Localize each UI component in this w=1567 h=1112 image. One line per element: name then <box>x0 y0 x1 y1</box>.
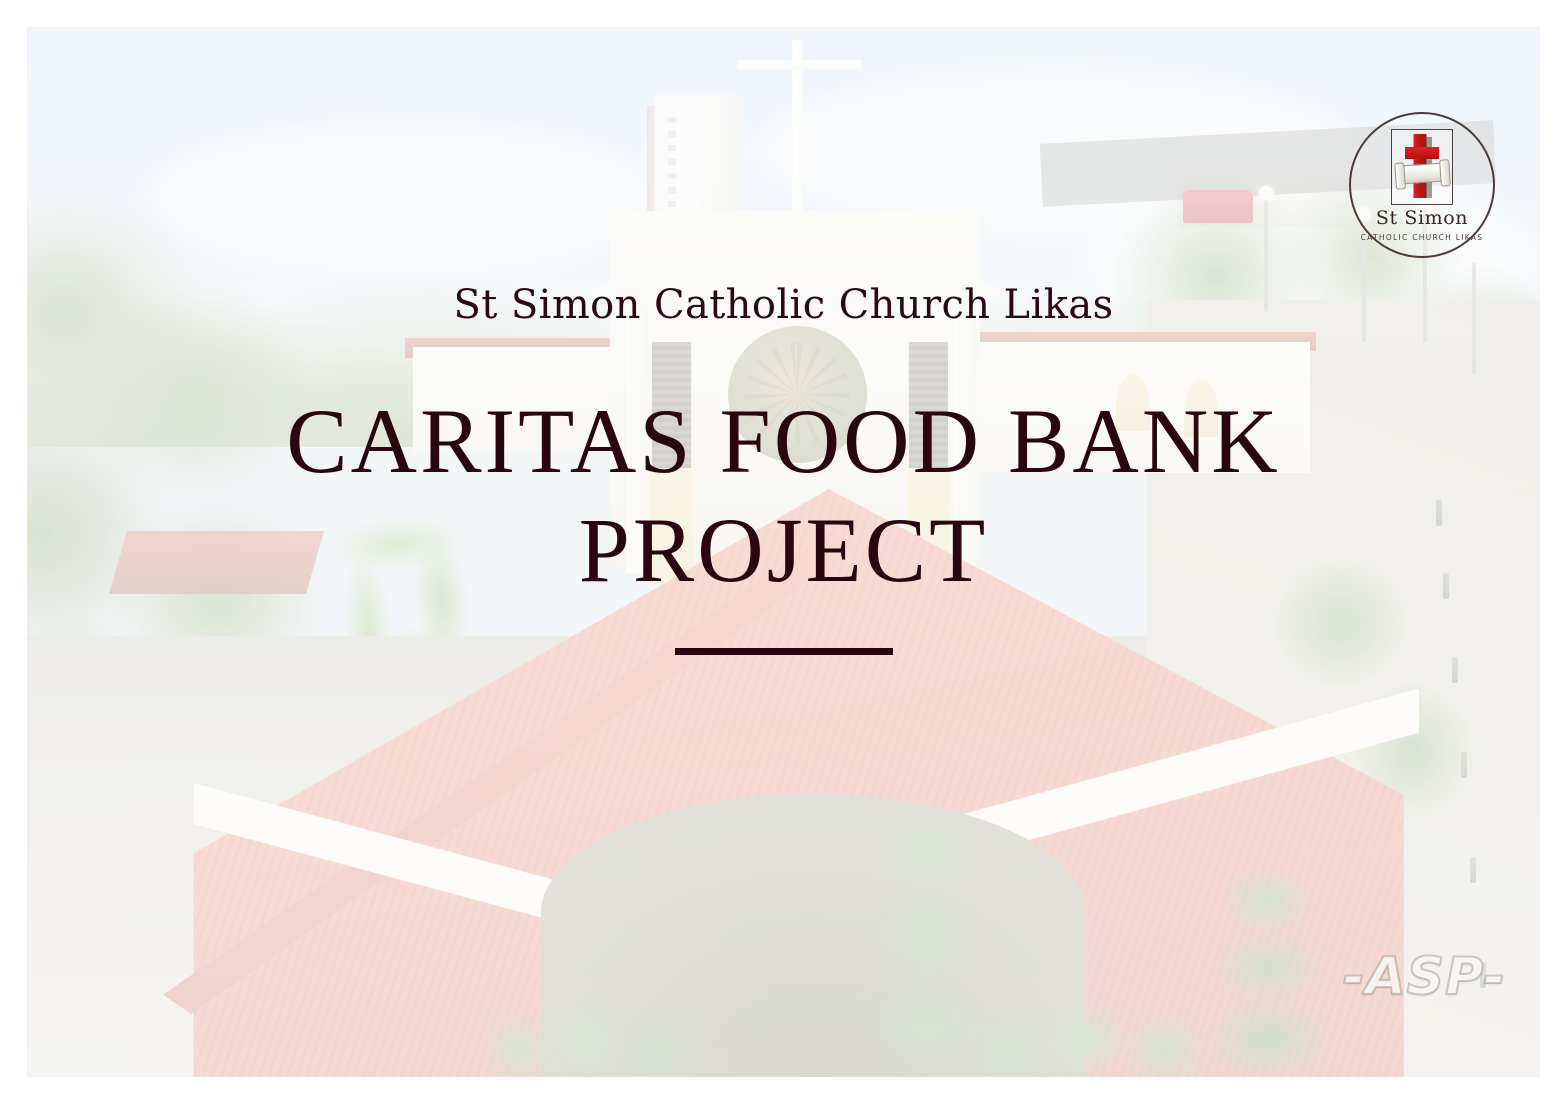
conifer-tree <box>1192 867 1343 1077</box>
asp-watermark: -ASP- <box>1343 947 1506 1007</box>
shrub <box>481 983 693 1078</box>
title-line-2: PROJECT <box>286 496 1280 605</box>
logo-name: St Simon <box>1376 209 1468 228</box>
shrub <box>965 983 1207 1078</box>
title-divider <box>675 648 893 655</box>
logo-tagline: CATHOLIC CHURCH LIKAS <box>1361 233 1484 242</box>
page-title: CARITAS FOOD BANK PROJECT <box>286 387 1280 604</box>
cross-and-scroll-icon <box>1391 129 1453 205</box>
church-logo[interactable]: St Simon CATHOLIC CHURCH LIKAS <box>1349 112 1495 258</box>
title-line-1: CARITAS FOOD BANK <box>286 387 1280 496</box>
church-subtitle: St Simon Catholic Church Likas <box>453 285 1113 325</box>
rooftop-cross-horizontal <box>737 60 861 70</box>
photo-frame: St Simon Catholic Church Likas CARITAS F… <box>27 27 1540 1077</box>
slide: St Simon Catholic Church Likas CARITAS F… <box>0 0 1567 1112</box>
